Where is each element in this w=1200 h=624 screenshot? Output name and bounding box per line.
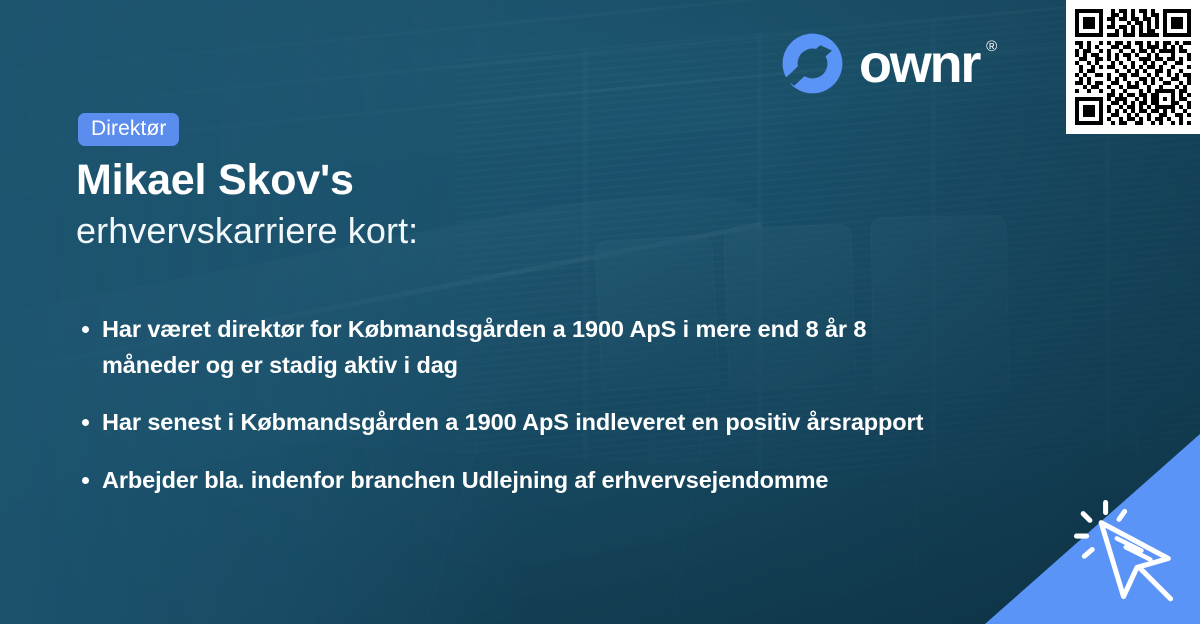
list-item-text: Har været direktør for Købmandsgården a … — [102, 316, 866, 378]
page-subtitle: erhvervskarriere kort: — [76, 210, 418, 251]
page-title: Mikael Skov's — [76, 157, 354, 204]
bullet-dot-icon — [82, 477, 89, 484]
ownr-circle-swirl-icon — [780, 31, 845, 96]
card-content: Direktør Mikael Skov's erhvervskarriere … — [0, 0, 1200, 624]
career-highlights-list: Har været direktør for Købmandsgården a … — [80, 312, 960, 499]
click-cursor-icon — [1072, 498, 1184, 610]
role-badge: Direktør — [78, 113, 179, 146]
list-item: Har været direktør for Købmandsgården a … — [80, 312, 960, 383]
list-item-text: Arbejder bla. indenfor branchen Udlejnin… — [102, 467, 828, 493]
qr-code-panel[interactable] — [1066, 0, 1200, 134]
list-item: Har senest i Købmandsgården a 1900 ApS i… — [80, 405, 960, 441]
list-item: Arbejder bla. indenfor branchen Udlejnin… — [80, 463, 960, 499]
bullet-dot-icon — [82, 326, 89, 333]
ownr-logo[interactable]: ownr ® — [780, 31, 981, 96]
ownr-wordmark: ownr ® — [859, 37, 981, 91]
bullet-dot-icon — [82, 419, 89, 426]
list-item-text: Har senest i Købmandsgården a 1900 ApS i… — [102, 409, 923, 435]
qr-code-icon — [1075, 9, 1191, 125]
registered-trademark-icon: ® — [986, 39, 997, 54]
business-career-card: Direktør Mikael Skov's erhvervskarriere … — [0, 0, 1200, 624]
ownr-wordmark-text: ownr — [859, 34, 979, 94]
